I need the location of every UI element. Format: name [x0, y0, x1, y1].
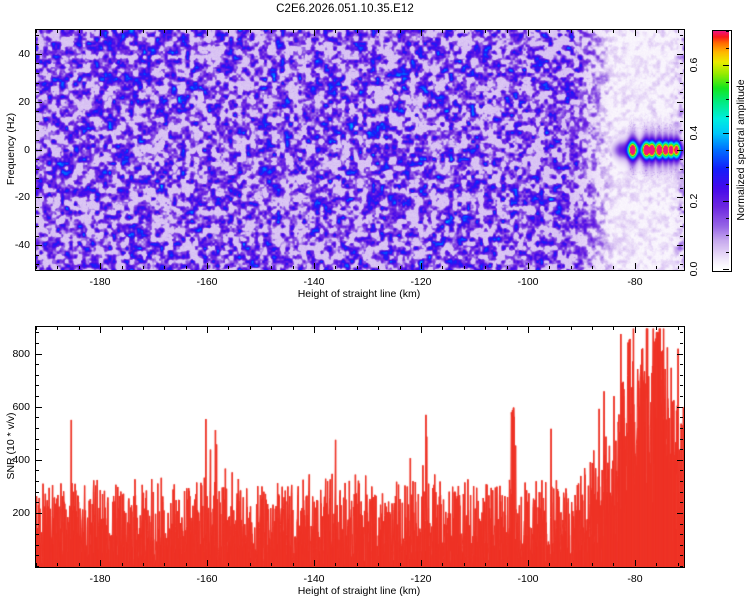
x-tick-label: -140 [303, 573, 324, 585]
snr-y-axis-label: SNR (10 * v/v) [5, 412, 17, 479]
x-tick-label: -160 [196, 573, 217, 585]
y-tick-label: 600 [2, 401, 30, 413]
y-tick-label: -20 [2, 191, 30, 203]
colorbar-label: Normalized spectral amplitude [735, 79, 747, 220]
colorbar-gradient [713, 31, 729, 269]
spectrogram-plot [36, 30, 684, 270]
x-tick-label: -140 [303, 276, 324, 288]
colorbar-tick-label: 0.6 [688, 52, 700, 78]
colorbar-tick-label: 0.0 [688, 256, 700, 282]
x-tick-label: -120 [410, 573, 431, 585]
y-tick-label: 20 [2, 96, 30, 108]
snr-x-axis-label: Height of straight line (km) [298, 585, 421, 597]
spectrogram-x-axis-label: Height of straight line (km) [298, 288, 421, 300]
x-tick-label: -80 [627, 276, 642, 288]
x-tick-label: -180 [89, 573, 110, 585]
y-tick-label: -40 [2, 239, 30, 251]
x-tick-label: -100 [517, 276, 538, 288]
colorbar-tick-label: 0.4 [688, 120, 700, 146]
y-tick-label: 200 [2, 507, 30, 519]
colorbar-tick [723, 269, 729, 270]
x-tick-label: -100 [517, 573, 538, 585]
snr-plot [36, 327, 684, 567]
colorbar-tick-label: 0.2 [688, 188, 700, 214]
x-tick-label: -80 [627, 573, 642, 585]
x-tick-label: -160 [196, 276, 217, 288]
figure-root: C2E6.2026.051.10.35.E12 -180-160-140-120… [0, 0, 750, 600]
spectrogram-y-axis-label: Frequency (Hz) [5, 113, 17, 185]
x-tick-label: -120 [410, 276, 431, 288]
y-tick-label: 800 [2, 348, 30, 360]
page-title: C2E6.2026.051.10.35.E12 [0, 3, 690, 15]
y-tick-label: 40 [2, 48, 30, 60]
x-tick-label: -180 [89, 276, 110, 288]
